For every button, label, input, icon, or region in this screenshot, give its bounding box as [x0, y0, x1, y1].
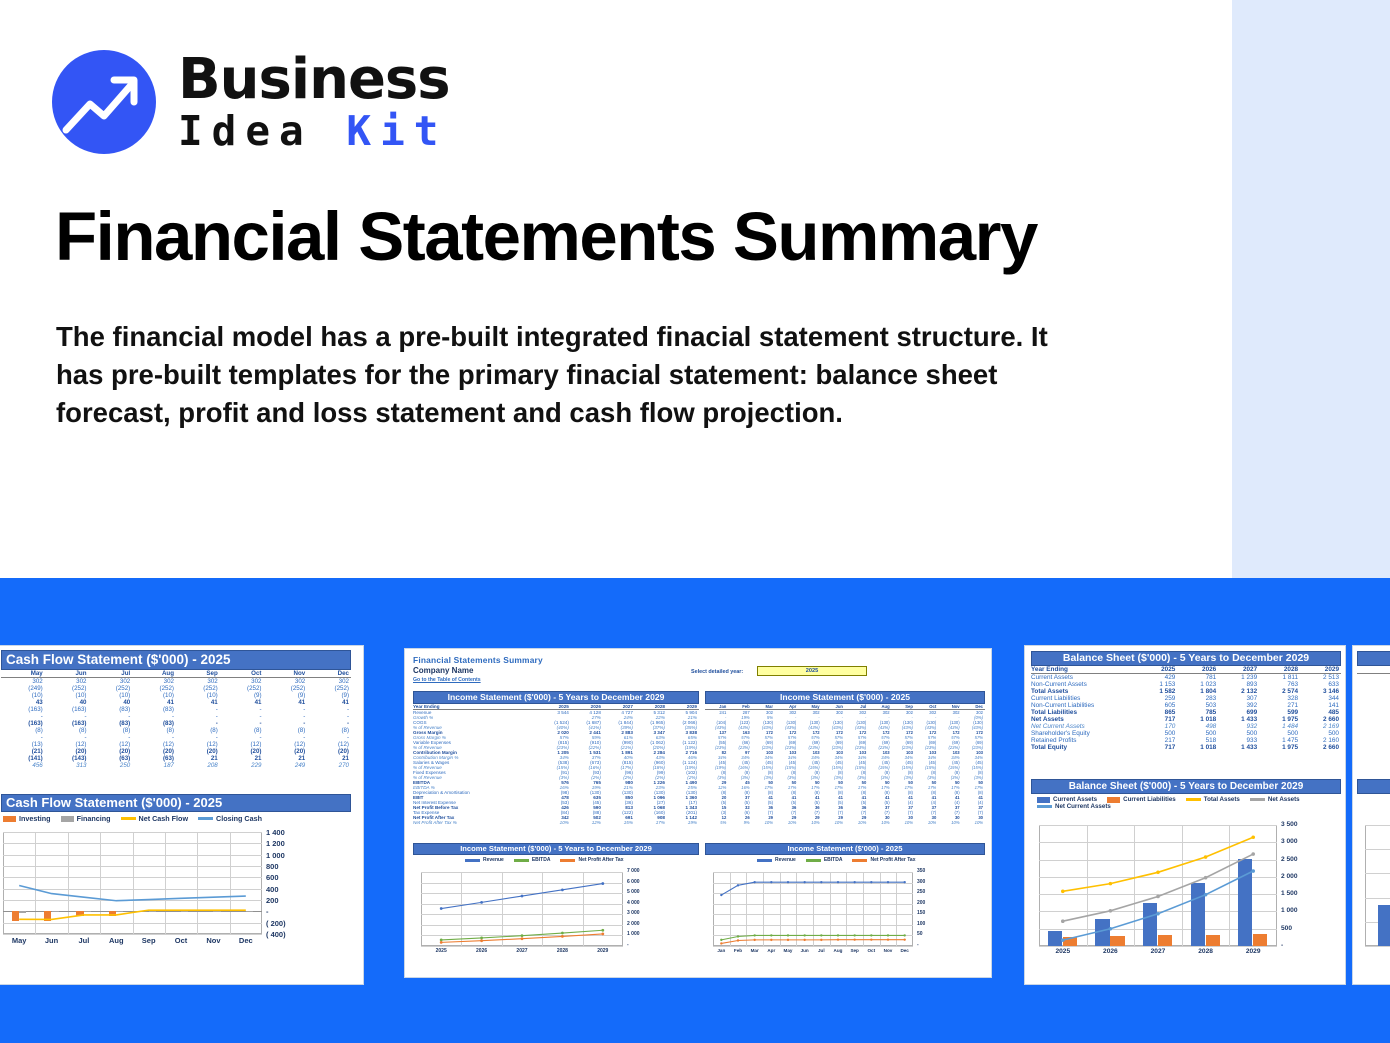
table-cell: 124: [1357, 681, 1390, 688]
legend-item: Closing Cash: [198, 814, 262, 823]
x-axis-label: 2029: [583, 948, 623, 954]
legend-label: Investing: [19, 814, 51, 823]
table-cell: 328: [1259, 695, 1300, 702]
table-row: Total Liabilities865785699599485: [1031, 709, 1341, 716]
row-label-header: Year Ending: [1031, 666, 1136, 674]
table-cell: -: [89, 713, 133, 720]
table-cell: (12): [220, 741, 264, 748]
balance-sheet-table: Year Ending20252026202720282029Current A…: [1031, 666, 1341, 751]
table-cell: (141): [1, 755, 45, 762]
monthly-income-chart: JanFebMarAprMayJunJulAugSepOctNovDec3503…: [711, 869, 943, 959]
table-row: (163)(163)(83)(83)----: [1, 720, 351, 727]
y-axis-label: 200: [917, 900, 925, 906]
table-cell: 17%: [635, 820, 667, 825]
table-cell: 500: [1357, 730, 1390, 737]
table-cell: 21: [307, 755, 351, 762]
x-axis-label: 2025: [1039, 948, 1087, 955]
table-cell: (12): [176, 741, 220, 748]
chart-lines: [1, 828, 306, 950]
table-cell: (252): [89, 685, 133, 692]
table-cell: -: [1, 734, 45, 741]
row-label: Net Current Assets: [1031, 723, 1136, 730]
table-cell: 1 975: [1259, 744, 1300, 751]
table-cell: 1 433: [1218, 744, 1259, 751]
table-cell: (83): [89, 720, 133, 727]
chart-lines: [711, 869, 943, 959]
y-axis-label: 600: [266, 873, 279, 882]
column-header: Nov: [264, 670, 308, 678]
legend-swatch: [757, 859, 772, 862]
y-axis-label: ( 200): [266, 919, 286, 928]
table-cell: 141: [1300, 702, 1341, 709]
table-cell: (83): [89, 706, 133, 713]
hero-section: Business Idea Kit Financial Statements S…: [0, 0, 1390, 578]
legend-swatch: [806, 859, 821, 862]
table-cell: 3 146: [1300, 688, 1341, 695]
table-row: 124: [1357, 681, 1390, 688]
table-cell: 2 574: [1259, 688, 1300, 695]
table-cell: 9%: [728, 820, 751, 825]
table-cell: 599: [1259, 709, 1300, 716]
table-cell: (143): [45, 755, 89, 762]
y-axis-label: 1 200: [266, 839, 285, 848]
summary-heading: Financial Statements Summary: [413, 655, 543, 665]
table-cell: 302: [264, 678, 308, 686]
table-cell: (20): [45, 748, 89, 755]
legend-item: EBITDA: [514, 857, 551, 863]
x-axis-label: Apr: [763, 948, 780, 953]
table-row: Net Profit After Tax %10%12%15%17%19%: [413, 820, 699, 825]
table-row: (163)(163)(83)(83)----: [1, 706, 351, 713]
summary-header: Financial Statements Summary Company Nam…: [413, 655, 543, 683]
table-cell: 1 582: [1136, 688, 1177, 695]
legend-label: EBITDA: [532, 857, 551, 863]
table-cell: -: [264, 713, 308, 720]
table-row: 1 081: [1357, 723, 1390, 730]
legend-item: Revenue: [465, 857, 504, 863]
x-axis-label: Oct: [863, 948, 880, 953]
table-cell: 250: [89, 762, 133, 769]
x-axis-label: 2025: [421, 948, 461, 954]
column-header: Sep: [176, 670, 220, 678]
brand-kit-text: Kit: [346, 107, 447, 155]
table-row: 500: [1357, 730, 1390, 737]
table-cell: 21: [220, 755, 264, 762]
legend-label: Net Profit After Tax: [578, 857, 623, 863]
monthly-balance-sheet-panel[interactable]: Jan1 1741241 297936927865121 08150012512…: [1352, 645, 1390, 985]
column-header: 2026: [1177, 666, 1218, 674]
table-cell: 1 475: [1259, 737, 1300, 744]
x-axis-label: Jan: [1365, 948, 1390, 955]
table-cell: (20): [220, 748, 264, 755]
annual-income-statement-title: Income Statement ($'000) - 5 Years to De…: [413, 691, 699, 704]
table-cell: (9): [264, 692, 308, 699]
y-axis-label: 1 400: [266, 828, 285, 837]
table-cell: (252): [176, 685, 220, 692]
x-axis-label: 2029: [1229, 948, 1277, 955]
y-axis-label: 150: [917, 910, 925, 916]
row-label: Current Liabilities: [1031, 695, 1136, 702]
table-cell: (249): [1, 685, 45, 692]
table-cell: -: [264, 720, 308, 727]
monthly-income-chart-title: Income Statement ($'000) - 2025: [705, 843, 985, 855]
table-cell: 633: [1300, 681, 1341, 688]
table-cell: -: [176, 706, 220, 713]
table-cell: -: [264, 706, 308, 713]
table-row: 786: [1357, 709, 1390, 716]
table-cell: 503: [1177, 702, 1218, 709]
table-cell: (20): [307, 748, 351, 755]
cash-flow-table-title: Cash Flow Statement ($'000) - 2025: [1, 650, 351, 670]
column-header: Aug: [132, 670, 176, 678]
x-axis-label: 2027: [502, 948, 542, 954]
monthly-balance-sheet-title: [1357, 651, 1390, 666]
x-axis-label: 2028: [542, 948, 582, 954]
x-axis-label: Jan: [713, 948, 730, 953]
table-cell: (8): [45, 727, 89, 734]
table-cell: (8): [264, 727, 308, 734]
table-cell: (8): [132, 727, 176, 734]
balance-sheet-table-title: Balance Sheet ($'000) - 5 Years to Decem…: [1031, 651, 1341, 666]
table-cell: 229: [220, 762, 264, 769]
table-cell: 2 132: [1218, 688, 1259, 695]
table-cell: (20): [176, 748, 220, 755]
table-cell: 500: [1136, 730, 1177, 737]
legend-item: Net Current Assets: [1037, 803, 1111, 810]
chart-lines: [419, 869, 657, 959]
table-cell: 2 660: [1300, 744, 1341, 751]
table-cell: 271: [1259, 702, 1300, 709]
table-cell: 302: [132, 678, 176, 686]
legend-swatch: [1037, 805, 1052, 808]
y-axis-label: -: [1281, 942, 1283, 949]
x-axis-label: May: [780, 948, 797, 953]
x-axis-label: 2026: [1087, 948, 1135, 955]
table-cell: 2 660: [1300, 716, 1341, 723]
table-cell: 785: [1177, 709, 1218, 716]
table-cell: 10%: [938, 820, 961, 825]
select-year-input[interactable]: 2025: [757, 666, 867, 676]
table-cell: 1 018: [1177, 716, 1218, 723]
table-cell: -: [220, 706, 264, 713]
row-label: Net Profit After Tax %: [413, 820, 539, 825]
balance-sheet-chart: 202520262027202820293 5003 0002 5002 000…: [1037, 822, 1309, 962]
legend-swatch: [1250, 798, 1265, 801]
table-cell: 429: [1136, 674, 1177, 682]
table-cell: (252): [307, 685, 351, 692]
legend-item: Financing: [61, 814, 111, 823]
table-cell: -: [220, 713, 264, 720]
x-axis-label: Feb: [730, 948, 747, 953]
y-axis-label: 1 000: [627, 931, 640, 937]
column-header: Oct: [220, 670, 264, 678]
legend-swatch: [560, 859, 575, 862]
x-axis-label: 2028: [1182, 948, 1230, 955]
table-row: Current Assets4297811 2391 8112 513: [1031, 674, 1341, 682]
table-cell: 500: [1300, 730, 1341, 737]
balance-sheet-panel[interactable]: Balance Sheet ($'000) - 5 Years to Decem…: [1024, 645, 1346, 985]
table-cell: 12%: [571, 820, 603, 825]
y-axis-label: 2 000: [1281, 873, 1298, 880]
table-cell: 932: [1218, 723, 1259, 730]
x-axis-label: 2026: [461, 948, 501, 954]
table-cell: 933: [1218, 737, 1259, 744]
table-row: (13)(12)(12)(12)(12)(12)(12)(12): [1, 741, 351, 748]
table-cell: 392: [1218, 702, 1259, 709]
balance-sheet-chart-title: Balance Sheet ($'000) - 5 Years to Decem…: [1031, 779, 1341, 794]
table-cell: 41: [220, 699, 264, 706]
column-header: Jul: [89, 670, 133, 678]
legend-item: Investing: [3, 814, 51, 823]
table-cell: (20): [132, 748, 176, 755]
table-row: 4340404141414141: [1, 699, 351, 706]
table-cell: 302: [307, 678, 351, 686]
table-row: 456313250187208229249270: [1, 762, 351, 769]
legend-item: EBITDA: [806, 857, 843, 863]
table-cell: 500: [1177, 730, 1218, 737]
y-axis-label: 7 000: [627, 868, 640, 874]
table-cell: (63): [132, 755, 176, 762]
table-cell: 10%: [892, 820, 915, 825]
x-axis-label: Nov: [197, 936, 229, 945]
legend-label: EBITDA: [824, 857, 843, 863]
table-cell: (12): [132, 741, 176, 748]
cash-flow-chart-legend: InvestingFinancingNet Cash FlowClosing C…: [3, 814, 272, 823]
cash-flow-panel[interactable]: Cash Flow Statement ($'000) - 2025 MayJu…: [0, 645, 364, 985]
column-header: 2029: [1300, 666, 1341, 674]
table-row: Total Equity7171 0181 4331 9752 660: [1031, 744, 1341, 751]
table-row: 692: [1357, 702, 1390, 709]
table-cell: 21: [176, 755, 220, 762]
table-cell: (9): [307, 692, 351, 699]
table-cell: 1 433: [1218, 716, 1259, 723]
column-header: Jun: [45, 670, 89, 678]
legend-label: Closing Cash: [216, 814, 262, 823]
y-axis-label: -: [917, 942, 919, 948]
table-cell: 500: [1218, 730, 1259, 737]
y-axis-label: 350: [917, 868, 925, 874]
table-cell: 786: [1357, 709, 1390, 716]
table-cell: 1 975: [1259, 716, 1300, 723]
x-axis-label: Sep: [133, 936, 165, 945]
table-row: 1 297: [1357, 688, 1390, 695]
table-row: Net Assets7171 0181 4331 9752 660: [1031, 716, 1341, 723]
table-row: Retained Profits2175189331 4752 160: [1031, 737, 1341, 744]
legend-item: Total Assets: [1186, 796, 1240, 803]
y-axis-label: 3 000: [627, 910, 640, 916]
legend-swatch: [465, 859, 480, 862]
table-cell: (163): [45, 706, 89, 713]
table-cell: 10%: [868, 820, 891, 825]
table-cell: 5%: [705, 820, 728, 825]
table-row: (10)(10)(10)(10)(10)(9)(9)(9): [1, 692, 351, 699]
growth-arrow-icon: [52, 50, 156, 154]
y-axis-label: 6 000: [627, 879, 640, 885]
y-axis-label: 400: [266, 885, 279, 894]
table-cell: (8): [89, 727, 133, 734]
table-cell: (13): [1, 741, 45, 748]
table-cell: 10%: [752, 820, 775, 825]
table-row: (21)(20)(20)(20)(20)(20)(20)(20): [1, 748, 351, 755]
table-row: Non-Current Liabilities605503392271141: [1031, 702, 1341, 709]
legend-item: Revenue: [757, 857, 796, 863]
table-cell: (163): [1, 706, 45, 713]
table-cell: 1 023: [1177, 681, 1218, 688]
y-axis-label: 1 000: [266, 851, 285, 860]
table-cell: (12): [307, 741, 351, 748]
table-cell: 1 239: [1218, 674, 1259, 682]
table-row: 1 174: [1357, 674, 1390, 682]
table-cell: 781: [1177, 674, 1218, 682]
table-row: (141)(143)(63)(63)21212121: [1, 755, 351, 762]
y-axis-label: 5 000: [627, 889, 640, 895]
legend-label: Net Profit After Tax: [870, 857, 915, 863]
table-of-contents-link[interactable]: Go to the Table of Contents: [413, 677, 543, 683]
x-axis-label: Jul: [813, 948, 830, 953]
legend-item: Current Liabilities: [1107, 796, 1176, 803]
select-year-value: 2025: [758, 667, 866, 675]
table-cell: 717: [1136, 716, 1177, 723]
table-cell: (163): [1, 720, 45, 727]
column-header: Jan: [1357, 666, 1390, 674]
table-cell: 512: [1357, 716, 1390, 723]
table-cell: (12): [264, 741, 308, 748]
table-cell: 93: [1357, 695, 1390, 702]
page-description: The financial model has a pre-built inte…: [56, 318, 1086, 432]
financial-summary-panel[interactable]: Financial Statements Summary Company Nam…: [404, 648, 992, 978]
table-cell: 270: [307, 762, 351, 769]
monthly-income-statement-title: Income Statement ($'000) - 2025: [705, 691, 985, 704]
table-cell: -: [220, 734, 264, 741]
table-cell: 1 297: [1357, 688, 1390, 695]
table-cell: (9): [220, 692, 264, 699]
legend-label: Net Assets: [1268, 796, 1300, 803]
table-row: 93: [1357, 695, 1390, 702]
y-axis-label: 3 500: [1281, 821, 1298, 828]
table-row: 302302302302302302302302: [1, 678, 351, 686]
row-label: Total Liabilities: [1031, 709, 1136, 716]
table-cell: -: [176, 720, 220, 727]
table-cell: (20): [264, 748, 308, 755]
table-cell: 259: [1136, 695, 1177, 702]
table-cell: 692: [1357, 702, 1390, 709]
annual-income-chart-title: Income Statement ($'000) - 5 Years to De…: [413, 843, 699, 855]
table-cell: 302: [89, 678, 133, 686]
annual-income-chart-legend: RevenueEBITDANet Profit After Tax: [465, 857, 633, 863]
column-header: 2027: [1218, 666, 1259, 674]
x-axis-label: Aug: [830, 948, 847, 953]
legend-swatch: [514, 859, 529, 862]
table-cell: 893: [1218, 681, 1259, 688]
table-row: Shareholder's Equity500500500500500: [1031, 730, 1341, 737]
table-cell: 10%: [822, 820, 845, 825]
table-row: Current Liabilities259283307328344: [1031, 695, 1341, 702]
y-axis-label: 2 500: [1281, 856, 1298, 863]
table-cell: (8): [220, 727, 264, 734]
table-cell: 302: [45, 678, 89, 686]
table-cell: 10%: [798, 820, 821, 825]
table-cell: (21): [1, 748, 45, 755]
table-cell: 344: [1300, 695, 1341, 702]
table-cell: 10%: [845, 820, 868, 825]
table-cell: (12): [45, 741, 89, 748]
y-axis-label: 2 000: [627, 921, 640, 927]
table-row: 512: [1357, 716, 1390, 723]
table-row: 12: [1357, 737, 1390, 744]
table-cell: 43: [1, 699, 45, 706]
table-row: (8)(8)(8)(8)(8)(8)(8)(8): [1, 727, 351, 734]
table-cell: 1 484: [1259, 723, 1300, 730]
y-axis-label: 500: [1281, 925, 1292, 932]
table-cell: 302: [176, 678, 220, 686]
legend-swatch: [121, 817, 136, 820]
legend-label: Revenue: [775, 857, 796, 863]
table-cell: -: [132, 734, 176, 741]
x-axis-label: Jun: [796, 948, 813, 953]
table-cell: -: [132, 713, 176, 720]
table-cell: 40: [89, 699, 133, 706]
brand-logo: Business Idea Kit: [52, 50, 450, 154]
table-row: Net Current Assets1704989321 4842 169: [1031, 723, 1341, 730]
table-cell: (83): [132, 706, 176, 713]
y-axis-label: 250: [917, 889, 925, 895]
row-label: Non-Current Liabilities: [1031, 702, 1136, 709]
table-cell: 15%: [603, 820, 635, 825]
table-cell: 1 018: [1177, 744, 1218, 751]
y-axis-label: 200: [266, 896, 279, 905]
table-row: Non-Current Assets1 1531 023893763633: [1031, 681, 1341, 688]
legend-item: Current Assets: [1037, 796, 1097, 803]
table-cell: 485: [1300, 709, 1341, 716]
y-axis-label: 50: [917, 931, 923, 937]
table-cell: 283: [1177, 695, 1218, 702]
table-cell: 187: [132, 762, 176, 769]
table-cell: 208: [176, 762, 220, 769]
table-cell: 170: [1136, 723, 1177, 730]
table-cell: 40: [45, 699, 89, 706]
table-cell: 10%: [775, 820, 798, 825]
row-label: Retained Profits: [1031, 737, 1136, 744]
table-cell: 865: [1136, 709, 1177, 716]
row-label: Total Assets: [1031, 688, 1136, 695]
annual-income-statement-table: Year Ending20252026202720282029Revenue3 …: [413, 704, 699, 825]
table-cell: 699: [1218, 709, 1259, 716]
table-cell: 41: [176, 699, 220, 706]
table-cell: (252): [220, 685, 264, 692]
chart-lines: [1037, 822, 1309, 962]
x-axis-label: Nov: [880, 948, 897, 953]
hero-sidebar-accent: [1232, 0, 1390, 578]
cash-flow-chart: MayJunJulAugSepOctNovDec1 4001 2001 0008…: [1, 828, 306, 950]
table-cell: -: [89, 734, 133, 741]
table-row: --------: [1, 734, 351, 741]
column-header: 2025: [1136, 666, 1177, 674]
table-cell: 1 174: [1357, 674, 1390, 682]
legend-swatch: [3, 816, 16, 822]
table-cell: (12): [89, 741, 133, 748]
table-cell: (83): [132, 720, 176, 727]
table-row: (249)(252)(252)(252)(252)(252)(252)(252): [1, 685, 351, 692]
table-cell: (20): [89, 748, 133, 755]
monthly-balance-sheet-chart: Jan: [1363, 822, 1390, 962]
cash-flow-table: MayJunJulAugSepOctNovDec3023023023023023…: [1, 670, 351, 769]
legend-item: Net Assets: [1250, 796, 1300, 803]
table-cell: -: [220, 720, 264, 727]
legend-swatch: [852, 859, 867, 862]
legend-label: Current Assets: [1053, 796, 1097, 803]
table-cell: -: [176, 734, 220, 741]
legend-label: Revenue: [483, 857, 504, 863]
